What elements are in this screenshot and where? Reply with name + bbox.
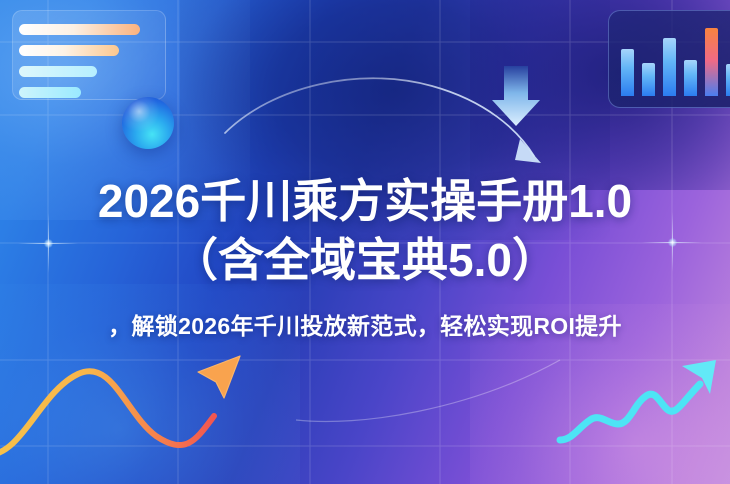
chart-bar [684,60,697,96]
glossy-sphere [122,97,174,149]
chart-bar [642,63,655,96]
cyan-growth-arrow [560,360,716,440]
bar-chart-bars [621,21,730,96]
faint-bottom-arc [296,360,560,422]
page-subtitle: ，解锁2026年千川投放新范式，轻松实现ROI提升 [0,307,730,341]
progress-bar-1 [19,24,140,35]
chart-bar [705,28,718,96]
down-arrow [492,66,540,126]
bar-chart-panel [608,10,730,108]
headline-line-1: 2026千川乘方实操手册1.0 [98,175,632,227]
poster-canvas: 2026千川乘方实操手册1.0 （含全域宝典5.0） ，解锁2026年千川投放新… [0,0,730,484]
chart-bar [663,38,676,96]
orange-growth-curve [0,356,240,455]
headline-line-2: （含全域宝典5.0） [0,231,730,290]
chart-bar [621,49,634,96]
chart-bar [726,64,730,96]
page-title: 2026千川乘方实操手册1.0 （含全域宝典5.0） [0,172,730,290]
progress-bars-card [12,10,166,100]
curved-arc-arrow [225,78,541,163]
progress-bar-2 [19,45,119,56]
progress-bar-3 [19,66,97,77]
progress-bar-4 [19,87,81,98]
